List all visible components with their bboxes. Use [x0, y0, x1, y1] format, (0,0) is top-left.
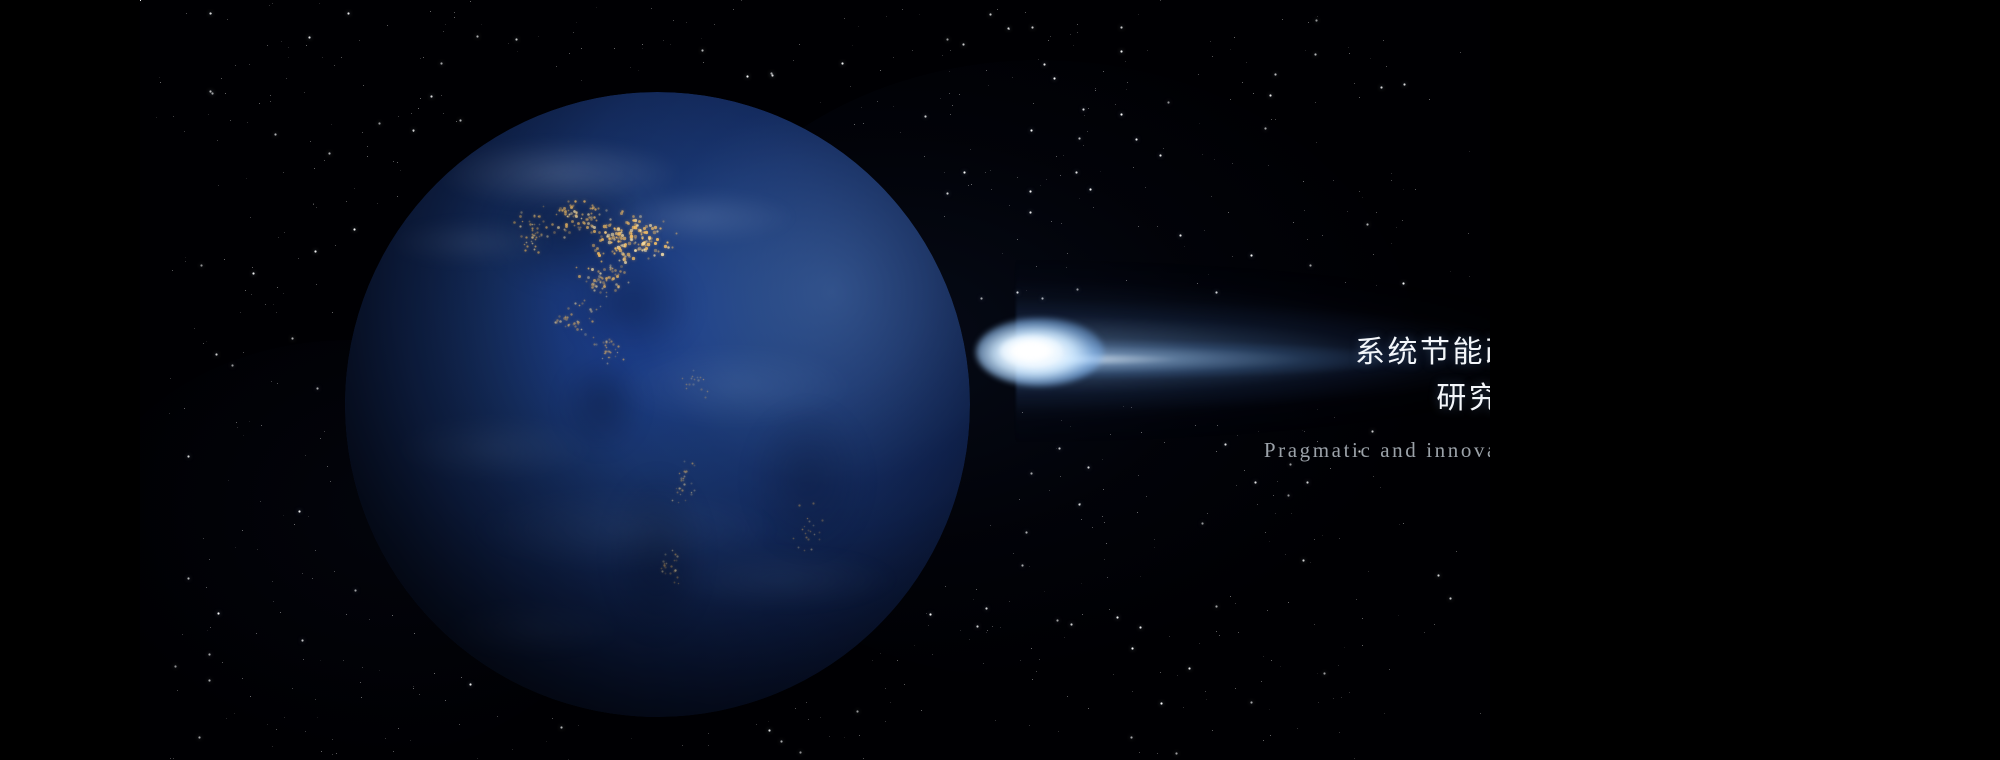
hero-banner: 系统节能改造等前沿技术的 研究与应用开发 Pragmatic and innov… — [0, 0, 2000, 760]
headline-line-2: 研究与应用开发 — [1230, 376, 1490, 422]
headline-subtitle: Pragmatic and innovative by honest and i… — [1230, 438, 1490, 463]
comet-core — [1000, 336, 1062, 366]
headline-line-1: 系统节能改造等前沿技术的 — [1230, 330, 1490, 376]
city-lights-icon — [345, 92, 346, 93]
comet-head-glow — [976, 318, 1104, 386]
starfield-bright-icon — [140, 0, 141, 1]
earth-bright-limb — [340, 87, 975, 722]
earth-night-globe — [345, 92, 970, 717]
banner-headline: 系统节能改造等前沿技术的 研究与应用开发 Pragmatic and innov… — [1230, 330, 1490, 463]
space-scene: 系统节能改造等前沿技术的 研究与应用开发 Pragmatic and innov… — [140, 0, 1490, 760]
